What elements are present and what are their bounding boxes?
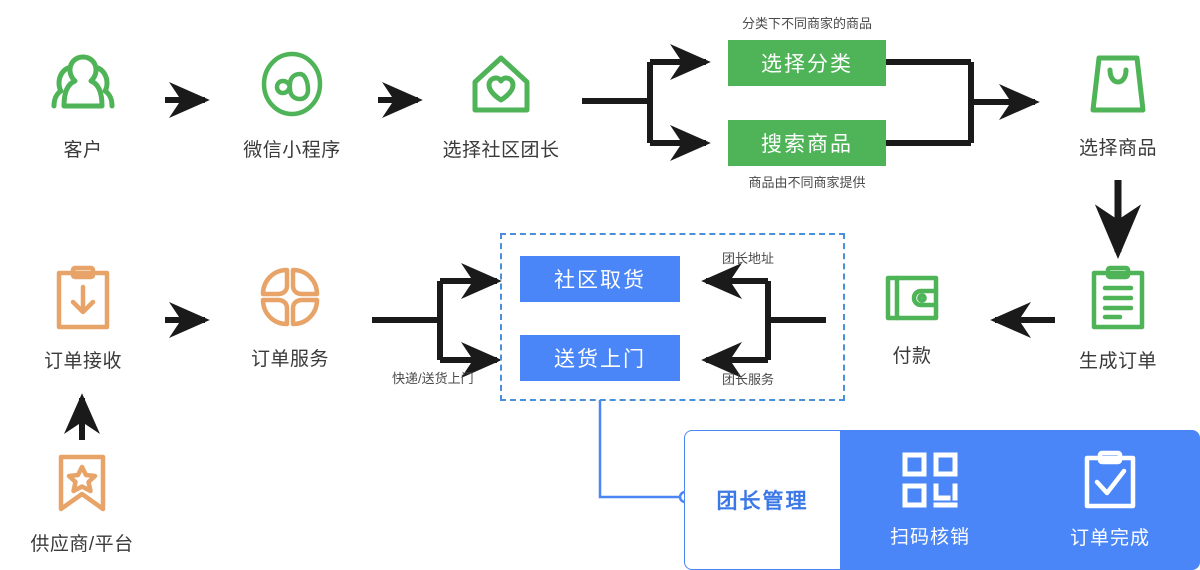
leader-management-title-cell[interactable]: 团长管理 xyxy=(684,430,840,570)
clipboard-check-icon xyxy=(1082,450,1138,515)
box-search-product[interactable]: 搜索商品 xyxy=(728,120,886,166)
node-supplier-label: 供应商/平台 xyxy=(30,529,133,556)
node-choose-leader-label: 选择社区团长 xyxy=(442,135,559,162)
node-customer[interactable]: 客户 xyxy=(42,48,124,162)
box-home-delivery-label: 送货上门 xyxy=(554,343,646,373)
panel-cell-order-complete[interactable]: 订单完成 xyxy=(1020,430,1200,570)
box-search-product-label: 搜索商品 xyxy=(761,128,853,158)
panel-cell-scan-verify[interactable]: 扫码核销 xyxy=(840,430,1020,570)
leader-management-title: 团长管理 xyxy=(717,485,809,515)
panel-cell-scan-verify-label: 扫码核销 xyxy=(890,522,970,549)
note-leader-service: 团长服务 xyxy=(722,369,774,388)
clipboard-list-icon xyxy=(1087,265,1149,336)
node-payment-label: 付款 xyxy=(892,341,931,368)
node-create-order[interactable]: 生成订单 xyxy=(1063,265,1173,373)
note-leader-address: 团长地址 xyxy=(722,248,774,267)
box-community-pickup[interactable]: 社区取货 xyxy=(520,256,680,302)
flowchart-canvas: 客户 微信小程序 选择社区团长 选择商品 选择分类 xyxy=(0,0,1200,570)
note-category: 分类下不同商家的商品 xyxy=(742,13,872,32)
note-product: 商品由不同商家提供 xyxy=(748,172,865,191)
node-customer-label: 客户 xyxy=(63,135,102,162)
node-payment[interactable]: 付款 xyxy=(876,270,948,368)
node-wechat-label: 微信小程序 xyxy=(243,135,341,162)
house-heart-icon xyxy=(465,48,537,125)
four-petal-icon xyxy=(258,265,322,334)
node-order-service-label: 订单服务 xyxy=(251,344,329,371)
wechat-mini-program-icon xyxy=(256,48,328,125)
people-icon xyxy=(47,48,119,125)
box-select-category-label: 选择分类 xyxy=(761,48,853,78)
box-home-delivery[interactable]: 送货上门 xyxy=(520,335,680,381)
node-choose-product[interactable]: 选择商品 xyxy=(1062,48,1174,160)
qr-scan-icon xyxy=(901,451,959,514)
panel-cell-order-complete-label: 订单完成 xyxy=(1070,523,1150,550)
clipboard-download-icon xyxy=(52,265,114,336)
note-delivery: 快递/送货上门 xyxy=(392,368,474,387)
leader-management-actions: 扫码核销 订单完成 xyxy=(840,430,1200,570)
node-create-order-label: 生成订单 xyxy=(1079,346,1157,373)
node-supplier[interactable]: 供应商/平台 xyxy=(22,452,142,556)
wallet-icon xyxy=(883,270,941,331)
box-select-category[interactable]: 选择分类 xyxy=(728,40,886,86)
connector-dashbox-to-leader-panel xyxy=(600,400,690,502)
node-order-receive-label: 订单接收 xyxy=(44,346,122,373)
node-choose-leader[interactable]: 选择社区团长 xyxy=(434,48,568,162)
node-order-service[interactable]: 订单服务 xyxy=(245,265,335,371)
shopping-bag-icon xyxy=(1085,48,1151,123)
ribbon-star-icon xyxy=(53,452,111,519)
node-wechat-mini-program[interactable]: 微信小程序 xyxy=(230,48,354,162)
node-choose-product-label: 选择商品 xyxy=(1079,133,1157,160)
node-order-receive[interactable]: 订单接收 xyxy=(38,265,128,373)
box-community-pickup-label: 社区取货 xyxy=(554,264,646,294)
